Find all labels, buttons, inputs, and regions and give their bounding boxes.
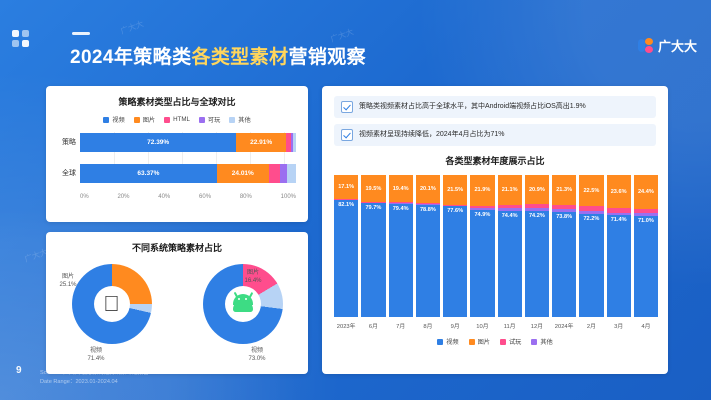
x-tick: 6月 — [361, 321, 385, 330]
x-tick: 2024年 — [552, 321, 576, 330]
page-title-suffix: 营销观察 — [288, 47, 366, 68]
page-title: 2024年策略类各类型素材营销观察 — [70, 42, 366, 69]
legend-item: 其他 — [229, 115, 250, 124]
insight-text: 策略类视频素材占比高于全球水平，其中Android端视频占比iOS高出1.9% — [359, 102, 586, 111]
column-chart-plot: 17.1% 82.1% 19.5% 79.7% 19.4% 79.4% 20.1… — [334, 175, 658, 317]
segment-image: 19.5% — [361, 175, 385, 202]
donut-label-video: 视频73.0% — [249, 348, 266, 363]
segment-image: 20.1% — [416, 175, 440, 203]
segment-image: 20.9% — [525, 175, 549, 204]
legend-label: 视频 — [446, 337, 458, 346]
column-bar: 21.5% 77.6% — [443, 175, 467, 317]
segment-video: 71.4% — [607, 215, 631, 317]
column-bar: 19.5% 79.7% — [361, 175, 385, 317]
segment-image: 24.4% — [634, 175, 658, 209]
insights-and-column-chart-card: 策略类视频素材占比高于全球水平，其中Android端视频占比iOS高出1.9% … — [322, 86, 668, 374]
title-accent-bar — [72, 32, 90, 35]
donut-center-icon — [225, 286, 261, 322]
x-tick: 40% — [158, 194, 170, 200]
column-bar: 24.4% 71.0% — [634, 175, 658, 317]
segment-video: 77.6% — [443, 206, 467, 317]
legend-label: 可玩 — [208, 115, 220, 124]
donut-label-video: 视频71.4% — [88, 348, 105, 363]
x-tick: 100% — [281, 194, 296, 200]
brand-name: 广大大 — [658, 36, 697, 55]
x-axis-ticks: 0% 20% 40% 60% 80% 100% — [80, 194, 296, 200]
chart-title: 不同系统策略素材占比 — [46, 241, 308, 254]
donut-ios:  图片25.1% 视频71.4% — [58, 260, 166, 368]
bar-category-label: 全球 — [48, 168, 76, 178]
donut-card: 不同系统策略素材占比  图片25.1% 视频71.4% — [46, 232, 308, 374]
donut-chart-group:  图片25.1% 视频71.4% 图片16.4% — [46, 260, 308, 368]
segment-image: 21.3% — [552, 175, 576, 205]
donut-ring:  — [72, 264, 152, 344]
segment-video: 73.8% — [552, 212, 576, 317]
stacked-bar-card: 策略素材类型占比与全球对比 视频 图片 HTML 可玩 其他 策略 72.39%… — [46, 86, 308, 222]
donut-label-image: 图片16.4% — [245, 270, 262, 285]
x-tick: 2023年 — [334, 321, 358, 330]
segment-image: 23.6% — [607, 175, 631, 208]
legend-label: 视频 — [112, 115, 124, 124]
legend-item: 其他 — [531, 337, 552, 346]
segment-video: 71.0% — [634, 216, 658, 317]
chart-title: 各类型素材年度展示占比 — [322, 154, 668, 167]
segment-video: 74.9% — [470, 210, 494, 317]
bar-segment-image: 22.91% — [236, 133, 285, 152]
legend-item: 视频 — [437, 337, 458, 346]
donut-center-icon:  — [94, 286, 130, 322]
column-bar: 20.1% 78.8% — [416, 175, 440, 317]
stacked-bar-plot: 策略 72.39% 22.91% 全球 63.37% 24.01% — [80, 132, 296, 183]
bar-segment-image: 24.01% — [217, 164, 269, 183]
column-bar: 17.1% 82.1% — [334, 175, 358, 317]
page-number: 9 — [16, 365, 22, 376]
insight-list: 策略类视频素材占比高于全球水平，其中Android端视频占比iOS高出1.9% … — [334, 96, 656, 146]
bar-row-strategy: 策略 72.39% 22.91% — [80, 132, 296, 152]
page-title-prefix: 2024年策略类 — [70, 47, 191, 68]
segment-image: 21.1% — [498, 175, 522, 205]
column-bar: 20.9% 74.2% — [525, 175, 549, 317]
x-tick: 0% — [80, 194, 89, 200]
legend-label: 其他 — [238, 115, 250, 124]
bar-row-global: 全球 63.37% 24.01% — [80, 163, 296, 183]
segment-video: 79.7% — [361, 203, 385, 317]
segment-video: 74.2% — [525, 211, 549, 317]
bar-segment-html — [269, 164, 280, 183]
segment-image: 17.1% — [334, 175, 358, 199]
x-tick: 4月 — [634, 321, 658, 330]
legend-label: 图片 — [143, 115, 155, 124]
bar-segment-video: 72.39% — [80, 133, 236, 152]
donut-label-image: 图片25.1% — [60, 274, 77, 289]
x-tick: 2月 — [579, 321, 603, 330]
x-tick: 9月 — [443, 321, 467, 330]
x-tick: 20% — [117, 194, 129, 200]
x-tick: 80% — [240, 194, 252, 200]
bar-segment-playable — [280, 164, 287, 183]
legend-label: 试玩 — [509, 337, 521, 346]
x-tick: 12月 — [525, 321, 549, 330]
app-logo-icon — [12, 30, 29, 47]
column-bar: 21.9% 74.9% — [470, 175, 494, 317]
donut-android: 图片16.4% 视频73.0% — [189, 260, 297, 368]
x-tick: 3月 — [607, 321, 631, 330]
column-bar: 21.3% 73.8% — [552, 175, 576, 317]
chart-legend: 视频 图片 试玩 其他 — [322, 337, 668, 346]
source-note: Source：广大大 创意素材趋势洞察专题报告2024 Date Range：2… — [40, 369, 161, 386]
segment-video: 82.1% — [334, 200, 358, 317]
source-line: Date Range：2023.01-2024.04 — [40, 379, 118, 385]
legend-item: 可玩 — [199, 115, 220, 124]
segment-video: 78.8% — [416, 205, 440, 317]
segment-image: 22.5% — [579, 175, 603, 207]
column-bar: 22.5% 72.2% — [579, 175, 603, 317]
legend-item: HTML — [164, 115, 190, 124]
brand-logo: 广大大 — [638, 36, 697, 55]
segment-video: 72.2% — [579, 214, 603, 317]
x-axis-labels: 2023年 6月 7月 8月 9月 10月 11月 12月 2024年 2月 3… — [334, 321, 658, 330]
bar-segment-video: 63.37% — [80, 164, 217, 183]
x-tick: 10月 — [470, 321, 494, 330]
insight-text: 视频素材呈现持续降低，2024年4月占比为71% — [359, 130, 504, 139]
x-tick: 7月 — [389, 321, 413, 330]
legend-label: HTML — [173, 116, 190, 123]
column-bar: 21.1% 74.4% — [498, 175, 522, 317]
segment-video: 74.4% — [498, 211, 522, 317]
insight-row: 策略类视频素材占比高于全球水平，其中Android端视频占比iOS高出1.9% — [334, 96, 656, 118]
legend-label: 其他 — [540, 337, 552, 346]
column-bar: 23.6% 71.4% — [607, 175, 631, 317]
chart-legend: 视频 图片 HTML 可玩 其他 — [46, 115, 308, 124]
apple-icon:  — [103, 293, 120, 315]
bar-track: 72.39% 22.91% — [80, 133, 296, 152]
x-tick: 11月 — [498, 321, 522, 330]
segment-image: 21.5% — [443, 175, 467, 205]
segment-image: 21.9% — [470, 175, 494, 206]
bar-segment-other — [287, 164, 296, 183]
x-tick: 60% — [199, 194, 211, 200]
legend-item: 图片 — [134, 115, 155, 124]
page-title-highlight: 各类型素材 — [191, 47, 288, 68]
donut-ring — [203, 264, 283, 344]
bar-segment-other — [293, 133, 296, 152]
segment-image: 19.4% — [389, 175, 413, 202]
brand-icon — [638, 38, 653, 53]
legend-item: 视频 — [103, 115, 124, 124]
bar-category-label: 策略 — [48, 137, 76, 147]
column-bar: 19.4% 79.4% — [389, 175, 413, 317]
android-icon — [230, 294, 256, 314]
chart-title: 策略素材类型占比与全球对比 — [46, 95, 308, 108]
legend-item: 试玩 — [500, 337, 521, 346]
x-tick: 8月 — [416, 321, 440, 330]
legend-item: 图片 — [469, 337, 490, 346]
check-icon — [341, 101, 353, 113]
bar-track: 63.37% 24.01% — [80, 164, 296, 183]
source-line: Source：广大大 创意素材趋势洞察专题报告2024 — [40, 370, 161, 376]
insight-row: 视频素材呈现持续降低，2024年4月占比为71% — [334, 124, 656, 146]
check-icon — [341, 129, 353, 141]
legend-label: 图片 — [478, 337, 490, 346]
segment-video: 79.4% — [389, 204, 413, 317]
